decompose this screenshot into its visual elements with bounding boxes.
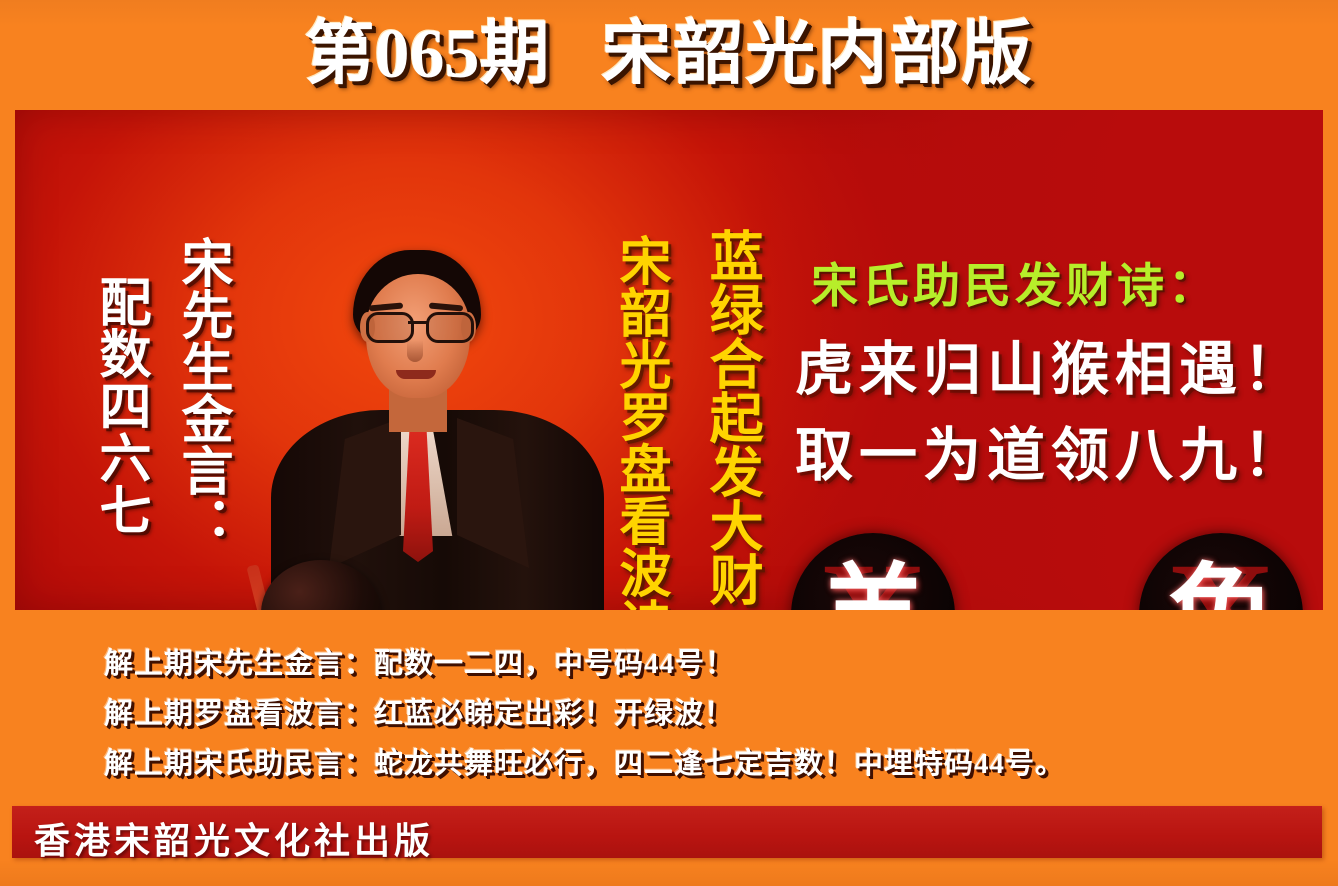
lens-left: [366, 312, 414, 343]
edition-title: 宋韶光内部版: [602, 20, 1034, 90]
review-line-1: 解上期宋先生金言：配数一二四，中号码44号！: [104, 640, 735, 682]
wealth-poem-line-1: 虎来归山猴相遇！: [795, 322, 1307, 406]
wealth-poem-heading: 宋氏助民发财诗：: [811, 247, 1219, 316]
wealth-poem-line-2: 取一为道领八九！: [795, 408, 1307, 492]
zodiac-character-1: 羊: [791, 533, 955, 610]
zodiac-badge-rabbit: X 兔: [1139, 533, 1303, 610]
zodiac-badge-goat: X 羊: [791, 533, 955, 610]
mouth: [396, 370, 436, 379]
review-line-2: 解上期罗盘看波言：红蓝必睇定出彩！开绿波！: [104, 690, 734, 732]
nose: [407, 340, 423, 362]
glasses-icon: [364, 312, 474, 338]
publisher-label: 香港宋韶光文化社出版: [34, 812, 434, 864]
lens-right: [426, 312, 474, 343]
compass-poem-heading: 宋韶光罗盘看波诗：: [613, 234, 666, 610]
glasses-bridge: [408, 321, 428, 324]
poster-header: 第065期 宋韶光内部版: [0, 0, 1338, 110]
compass-poem-line: 蓝绿合起发大财: [703, 228, 758, 606]
issue-number: 第065期: [305, 20, 550, 90]
lottery-poster: 第065期 宋韶光内部版: [0, 0, 1338, 886]
zodiac-character-2: 兔: [1139, 533, 1303, 610]
main-image-panel: 宋先生金言： 配数四六七 宋韶光罗盘看波诗： 蓝绿合起发大财 宋氏助民发财诗： …: [15, 110, 1323, 610]
master-saying-heading: 宋先生金言：: [175, 236, 228, 548]
review-line-3: 解上期宋氏助民言：蛇龙共舞旺必行，四二逢七定吉数！中埋特码44号。: [104, 740, 1065, 782]
master-saying-numbers: 配数四六七: [93, 275, 146, 535]
master-photo: [265, 234, 610, 610]
